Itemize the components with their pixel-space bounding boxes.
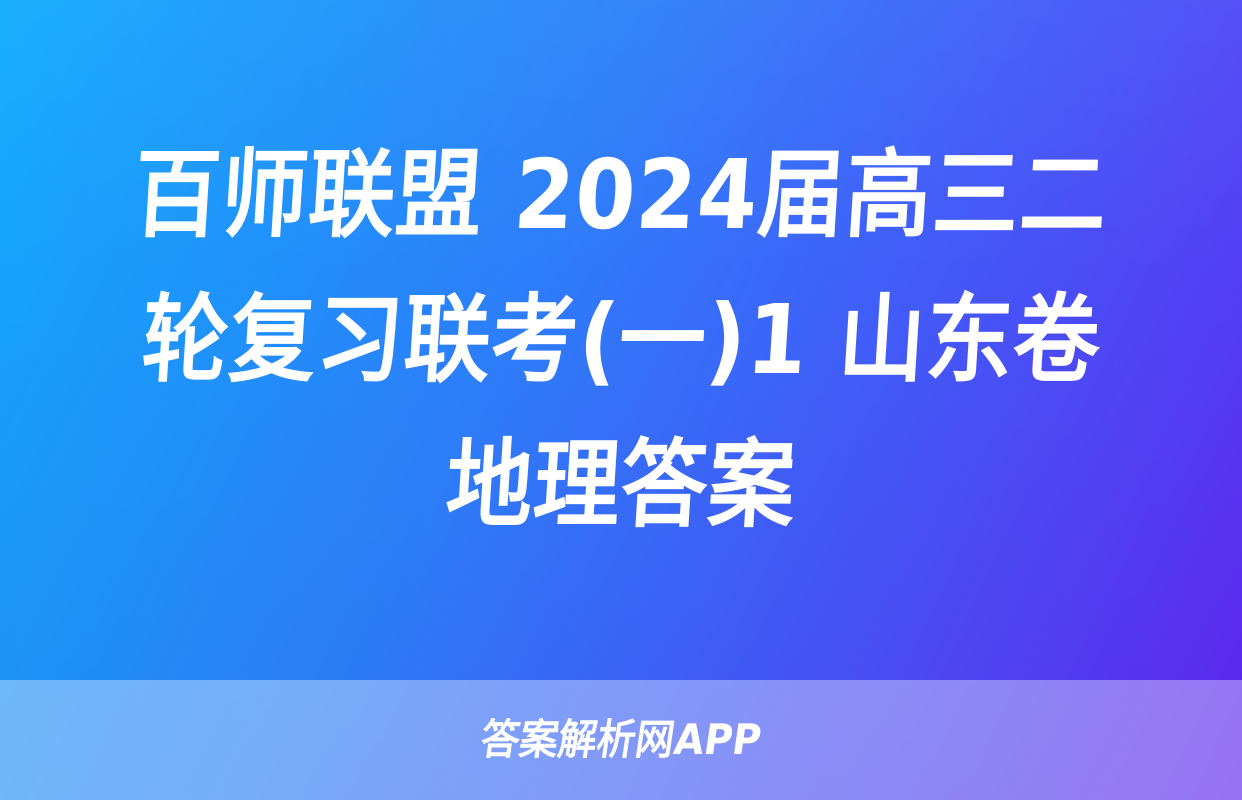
poster-title-block: 百师联盟 2024届高三二 轮复习联考(一)1 山东卷 地理答案 bbox=[0, 0, 1242, 680]
poster-canvas: 百师联盟 2024届高三二 轮复习联考(一)1 山东卷 地理答案 答案解析网AP… bbox=[0, 0, 1242, 800]
title-line-2: 轮复习联考(一)1 山东卷 bbox=[137, 268, 1105, 413]
title-line-3: 地理答案 bbox=[442, 413, 800, 558]
footer-watermark-band: 答案解析网APP bbox=[0, 680, 1242, 800]
app-watermark-label: 答案解析网APP bbox=[478, 719, 764, 761]
title-line-1: 百师联盟 2024届高三二 bbox=[130, 123, 1113, 268]
